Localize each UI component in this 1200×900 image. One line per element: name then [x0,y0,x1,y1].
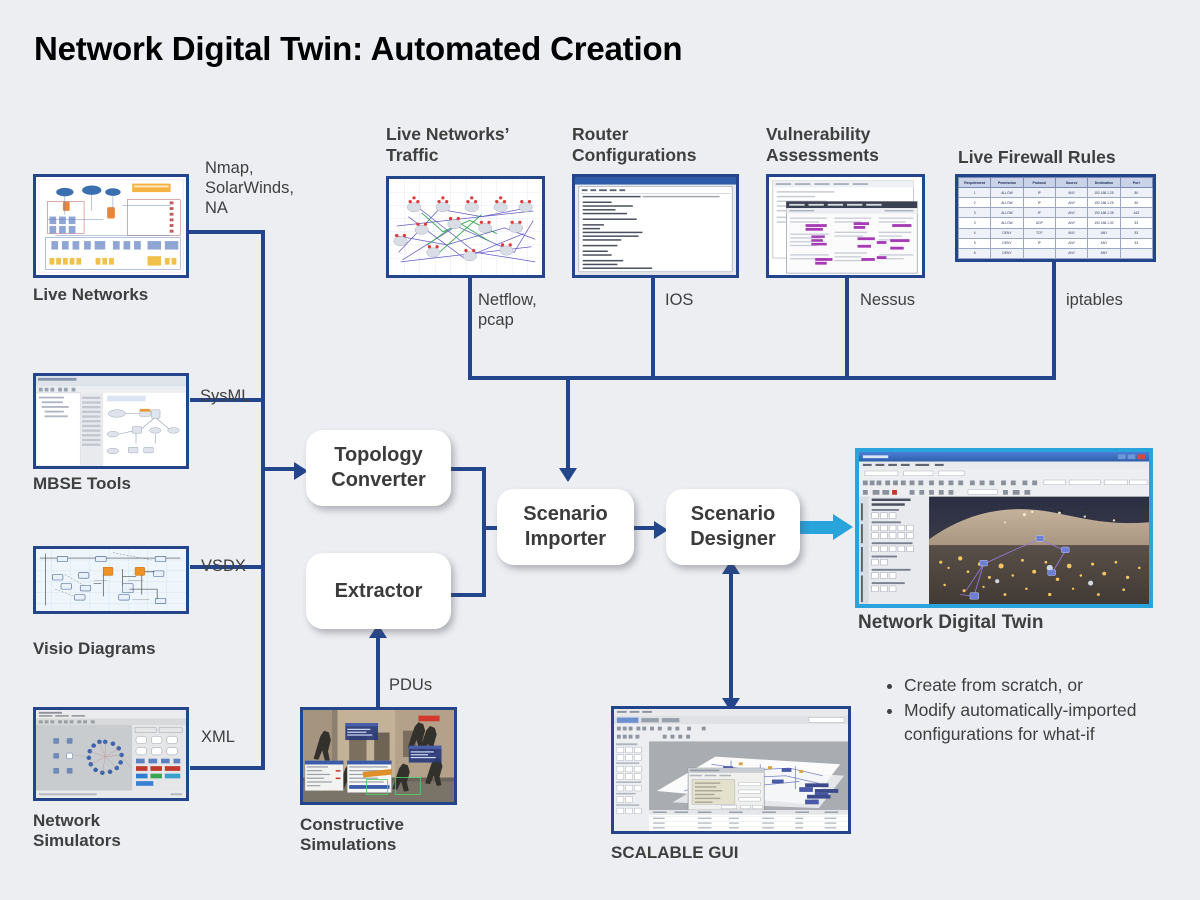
caption-mbse-tools: MBSE Tools [33,474,131,494]
left-bus-vertical [261,232,265,770]
table-row: 3ALLOWUDPANY192.168.1.3053 [959,218,1153,228]
constructive-sim-artwork [303,710,454,802]
thumbnail-network-simulators[interactable] [33,707,189,801]
mbse-tools-artwork [36,376,186,466]
edge-label-iptables: iptables [1066,290,1123,310]
table-row: 4DENYTCPANYANY53 [959,228,1153,238]
page-title: Network Digital Twin: Automated Creation [34,30,682,68]
arrow-top-bus-to-importer [559,468,577,482]
connector-bus-to-topology-converter [263,467,296,471]
thumbnail-live-firewall-rules[interactable]: Requirement Permission Protocol Source D… [955,174,1156,262]
list-item: Modify automatically-imported configurat… [904,698,1180,746]
thumbnail-router-configurations[interactable] [572,174,739,278]
drop-router-configurations [651,278,655,380]
router-config-artwork [575,177,736,275]
firewall-col-source: Source [1055,178,1087,188]
connector-extractor-out [450,593,486,597]
caption-network-simulators: Network Simulators [33,811,121,851]
table-row: 5DENYIPANYANY53 [959,238,1153,248]
process-box-scenario-designer[interactable]: Scenario Designer [666,489,800,565]
thumbnail-visio-diagrams[interactable] [33,546,189,614]
vulnerability-artwork [769,177,922,275]
drop-live-firewall-rules [1052,262,1056,380]
connector-top-bus-to-importer [566,376,570,472]
headline-live-firewall-rules: Live Firewall Rules [958,147,1116,168]
table-row: 1ALLOWIPANY192.168.1.2580 [959,188,1153,198]
connector-constructive-to-extractor [376,634,380,712]
table-row: 6DENYANYANY [959,248,1153,258]
caption-visio-diagrams: Visio Diagrams [33,639,156,659]
edge-label-xml: XML [201,727,235,747]
traffic-artwork [389,179,542,275]
top-bus-horizontal [468,376,1056,380]
headline-live-networks-traffic: Live Networks’ Traffic [386,124,510,166]
headline-vulnerability-assessments: Vulnerability Assessments [766,124,879,166]
table-row: 2ALLOWIPANY192.168.1.2580 [959,198,1153,208]
caption-constructive-simulations: Constructive Simulations [300,815,404,855]
drop-vulnerability-assessments [845,278,849,380]
live-networks-artwork [36,177,186,275]
edge-label-nmap: Nmap, SolarWinds, NA [205,158,294,218]
firewall-rules-table: Requirement Permission Protocol Source D… [958,177,1153,259]
firewall-col-requirement: Requirement [959,178,991,188]
headline-router-configurations: Router Configurations [572,124,696,166]
drop-live-networks-traffic [468,278,472,380]
thumbnail-network-digital-twin[interactable] [855,448,1153,608]
network-simulators-artwork [36,710,186,798]
visio-diagrams-artwork [36,549,186,611]
process-box-topology-converter[interactable]: Topology Converter [306,430,451,506]
thumbnail-mbse-tools[interactable] [33,373,189,469]
firewall-col-port: Port [1120,178,1152,188]
connector-live-networks [186,230,265,234]
list-item: Create from scratch, or [904,673,1180,697]
connector-designer-to-twin [800,521,835,534]
thumbnail-live-networks-traffic[interactable] [386,176,545,278]
edge-label-pdus: PDUs [389,675,432,695]
scalable-gui-artwork [614,709,848,831]
thumbnail-live-networks[interactable] [33,174,189,278]
arrow-to-network-digital-twin [833,514,853,540]
firewall-col-destination: Destination [1088,178,1120,188]
connector-merge-vertical [482,467,486,597]
caption-network-digital-twin: Network Digital Twin [858,613,1043,633]
connector-gui-designer [729,568,733,708]
process-box-scenario-importer[interactable]: Scenario Importer [497,489,634,565]
firewall-col-protocol: Protocol [1023,178,1055,188]
output-bullet-list: Create from scratch, or Modify automatic… [880,673,1180,747]
thumbnail-vulnerability-assessments[interactable] [766,174,925,278]
edge-label-ios: IOS [665,290,693,310]
firewall-col-permission: Permission [991,178,1023,188]
table-row: 3ALLOWIPANY192.168.1.35443 [959,208,1153,218]
connector-topology-out [450,467,486,471]
connector-network-simulators [190,766,265,770]
caption-scalable-gui: SCALABLE GUI [611,843,739,863]
firewall-table-header-row: Requirement Permission Protocol Source D… [959,178,1153,188]
thumbnail-constructive-simulations[interactable] [300,707,457,805]
diagram-canvas: Network Digital Twin: Automated Creation [0,0,1200,900]
caption-live-networks: Live Networks [33,285,148,305]
process-box-extractor[interactable]: Extractor [306,553,451,629]
edge-label-nessus: Nessus [860,290,915,310]
network-digital-twin-artwork [859,452,1149,604]
edge-label-netflow: Netflow, pcap [478,290,537,330]
edge-label-sysml: SysML [200,386,250,406]
edge-label-vsdx: VSDX [201,556,246,576]
thumbnail-scalable-gui[interactable] [611,706,851,834]
